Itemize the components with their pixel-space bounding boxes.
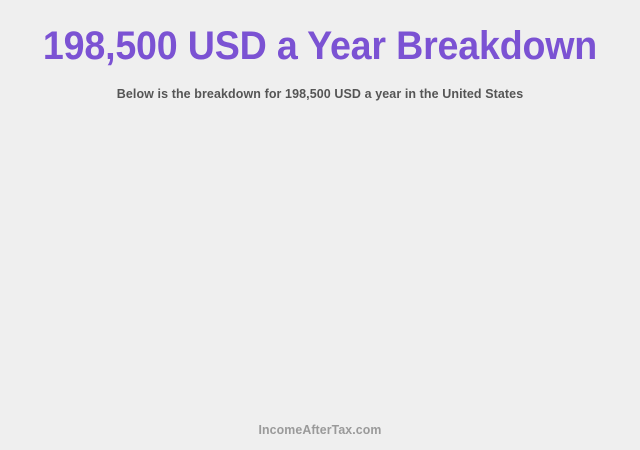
footer-credit: IncomeAfterTax.com <box>16 422 624 438</box>
page-title: 198,500 USD a Year Breakdown <box>19 22 621 70</box>
page-root: 198,500 USD a Year Breakdown Below is th… <box>0 0 640 450</box>
breakdown-content-area <box>0 118 640 413</box>
page-subtitle: Below is the breakdown for 198,500 USD a… <box>13 85 627 103</box>
